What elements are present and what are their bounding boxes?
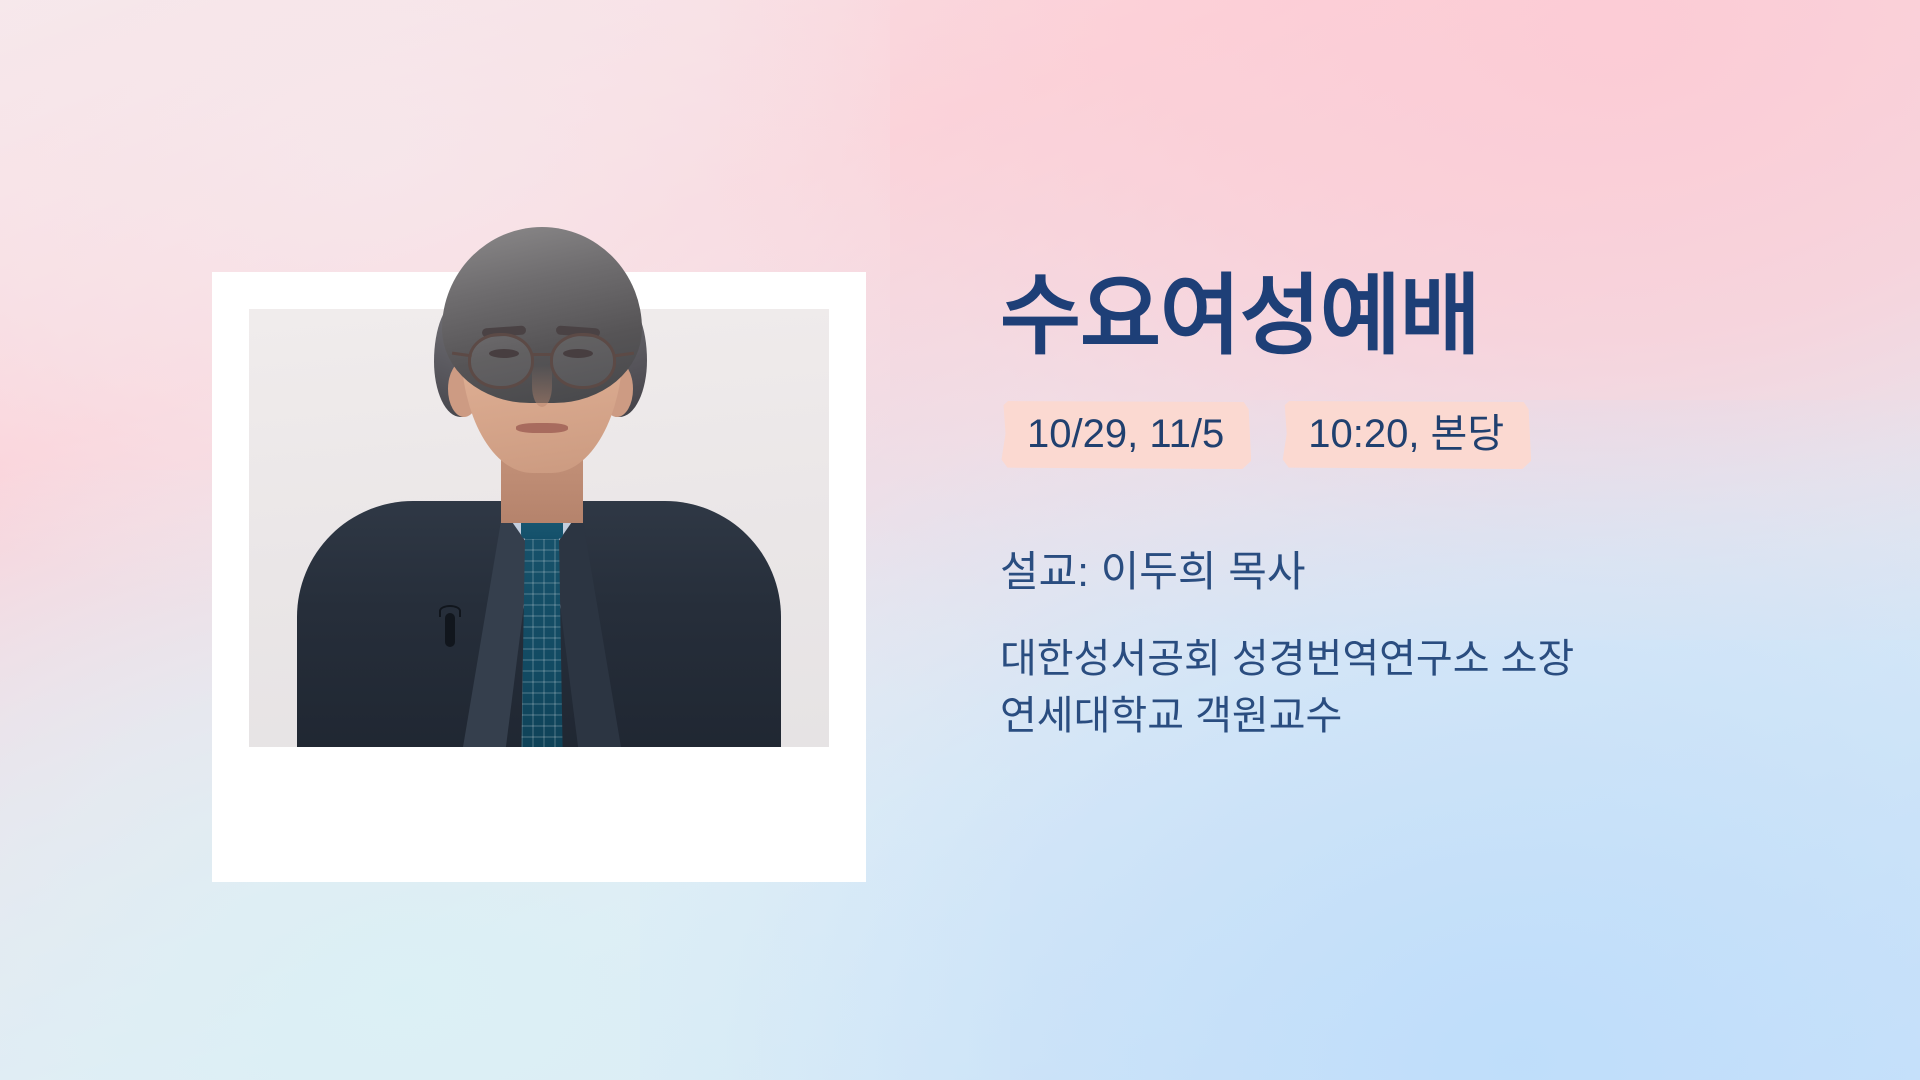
glasses-bridge (532, 353, 552, 356)
mouth (516, 423, 568, 433)
date-badge: 10/29, 11/5 (1000, 401, 1251, 469)
speaker-line: 설교: 이두희 목사 (1000, 547, 1830, 597)
schedule-badges: 10/29, 11/5 10:20, 본당 (1000, 401, 1830, 469)
speaker-credentials: 대한성서공회 성경번역연구소 소장 연세대학교 객원교수 (1000, 631, 1830, 745)
glasses-lens-right (550, 333, 616, 389)
nose (532, 365, 552, 407)
credential-line-2: 연세대학교 객원교수 (1000, 688, 1830, 745)
glasses-lens-left (468, 333, 534, 389)
polaroid-caption-area (249, 747, 829, 882)
date-badge-label: 10/29, 11/5 (1027, 412, 1224, 456)
time-location-badge-label: 10:20, 본당 (1308, 412, 1504, 456)
photo-clip-area (249, 309, 829, 747)
speaker-photo-polaroid (212, 272, 866, 882)
credential-line-1: 대한성서공회 성경번역연구소 소장 (1000, 631, 1830, 688)
page-title: 수요여성예배 (1000, 268, 1830, 363)
worship-announcement-poster: 수요여성예배 10/29, 11/5 10:20, 본당 설교: 이두희 목사 … (0, 0, 1920, 1080)
speaker-portrait-figure (249, 309, 829, 747)
necktie (521, 527, 563, 747)
time-location-badge: 10:20, 본당 (1281, 401, 1531, 469)
poster-text-column: 수요여성예배 10/29, 11/5 10:20, 본당 설교: 이두희 목사 … (1000, 268, 1830, 745)
lapel-microphone (445, 613, 455, 647)
speaker-photo (249, 309, 829, 747)
